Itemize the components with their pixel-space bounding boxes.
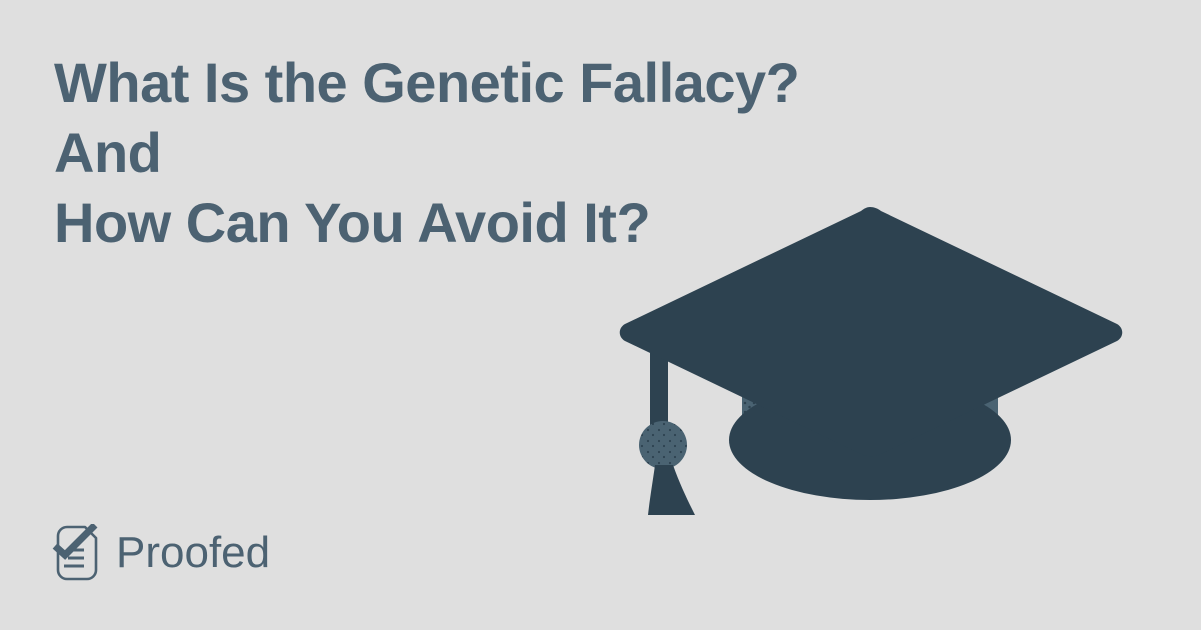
brand-name: Proofed bbox=[116, 528, 270, 578]
tassel-bead bbox=[639, 421, 687, 469]
brand-logo[interactable]: Proofed bbox=[50, 524, 270, 582]
graduation-cap-illustration bbox=[590, 185, 1150, 545]
document-check-icon bbox=[50, 524, 102, 582]
mortarboard-top bbox=[620, 207, 1123, 456]
article-banner: What Is the Genetic Fallacy? And How Can… bbox=[0, 0, 1201, 630]
tassel-skirt bbox=[648, 465, 695, 515]
